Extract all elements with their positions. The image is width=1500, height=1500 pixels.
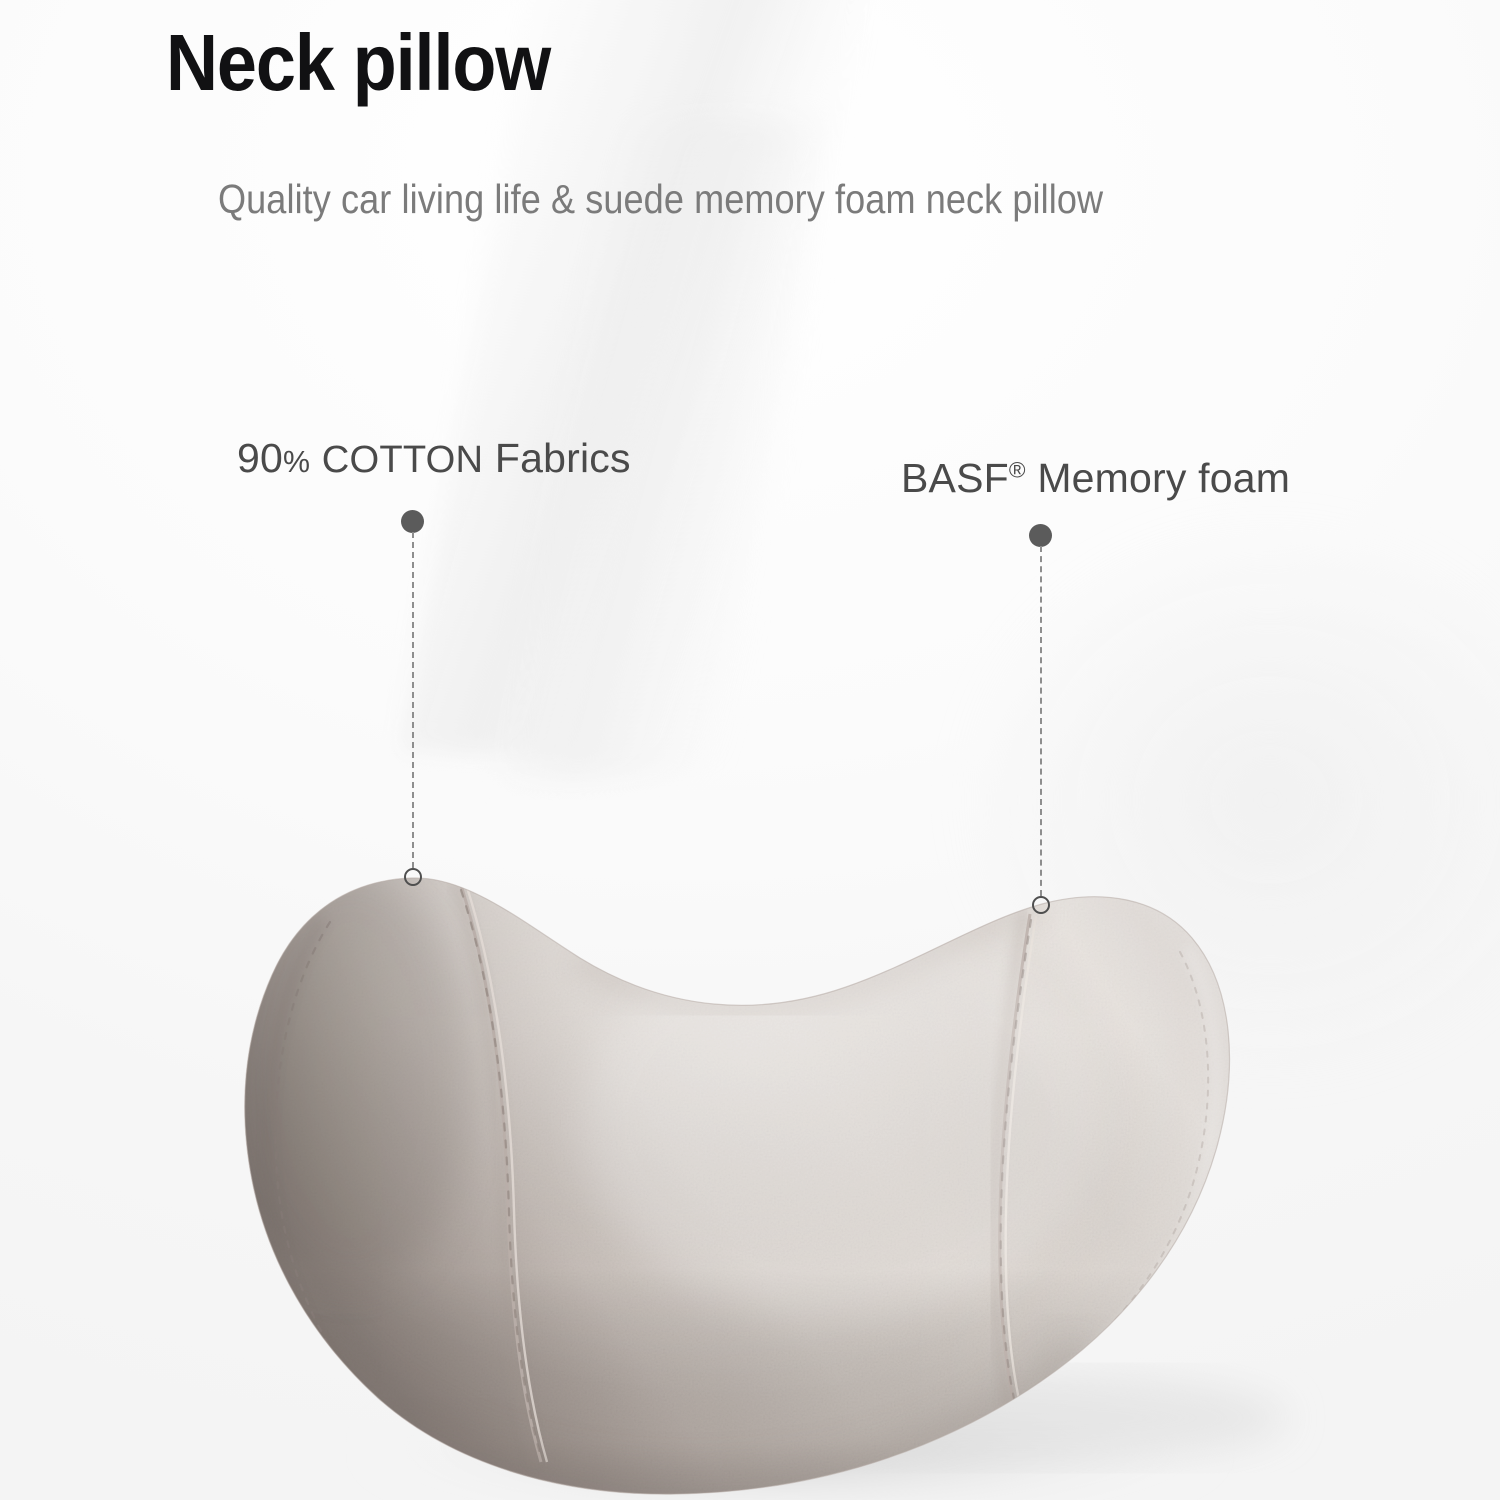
registered-trademark-icon: ® [1009,457,1026,482]
pillow-top-notch-shading [580,904,1042,1005]
background-light-wedge [400,0,871,768]
annotation-cotton-caps: COTTON [322,438,483,481]
annotation-cotton-dot [401,510,424,533]
annotation-basf-brand: BASF [901,455,1009,501]
pillow-body [230,860,1250,1500]
pillow-seam-right [994,912,1036,1428]
annotation-basf-dot [1029,524,1052,547]
pillow-bottom-roll-shadow [300,1330,1090,1494]
annotation-cotton-leader-line [412,532,414,868]
pillow-edge-rim-right [1058,948,1216,1376]
annotation-cotton-suffix: Fabrics [495,435,631,481]
pillow-seam-left [455,880,547,1462]
pillow-edge-stitch-left [266,920,380,1418]
pillow-ground-shadow [360,1386,1220,1500]
annotation-basf-leader-line [1040,546,1042,896]
page-title: Neck pillow [166,16,550,110]
annotation-basf-suffix: Memory foam [1037,455,1290,501]
pillow-ground-shadow-right [748,1372,1288,1464]
annotation-cotton-percent: % [283,446,310,479]
annotation-cotton-number: 90 [237,435,283,481]
annotation-basf-label: BASF® Memory foam [901,455,1290,502]
page-subtitle: Quality car living life & suede memory f… [218,170,1103,228]
annotation-basf-endpoint-ring [1032,896,1050,914]
annotation-cotton-endpoint-ring [404,868,422,886]
infographic-canvas: Neck pillow Quality car living life & su… [0,0,1500,1500]
annotation-cotton-label: 90% COTTON Fabrics [237,435,631,482]
